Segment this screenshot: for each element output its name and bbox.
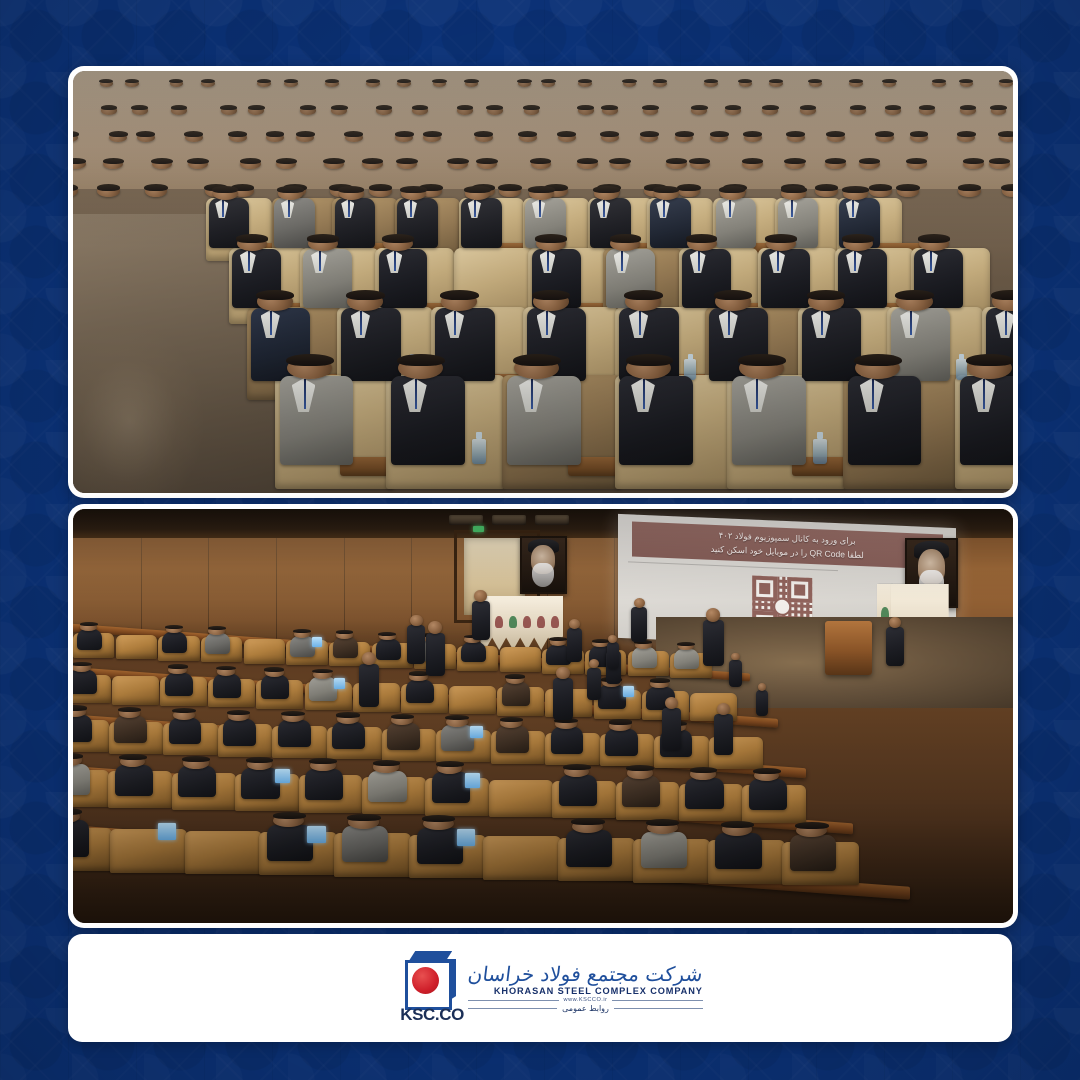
seated-person-body [280,376,353,465]
hall-audience-hair [309,758,337,764]
hall-audience-body [674,649,699,670]
standing-person [407,625,425,664]
company-logo: KSC.CO شرکت مجتمع فولاد خراسان KHORASAN … [401,951,703,1025]
seated-person-body [619,376,692,465]
hall-audience-body [685,778,723,809]
seated-person-hair [212,186,239,193]
seated-person-hair [256,290,295,300]
lanyard [547,251,549,271]
flag-row-left [477,596,561,650]
hall-audience-body [162,632,187,653]
cube-red-dot-icon [412,967,439,994]
lanyard [603,200,605,216]
seated-person-body [761,249,810,308]
seated-person-hair [842,186,869,193]
seated-person-hair [535,234,567,242]
website-rule-row: www.KSCCO.ir [468,997,703,1003]
audience-photo-card [68,66,1018,498]
hall-audience-hair [80,622,98,626]
hall-audience-hair [73,662,92,667]
lanyard [1005,311,1007,335]
rule-left-2 [468,1008,557,1009]
hall-audience-body [77,629,102,650]
hall-audience-hair [690,767,718,773]
standing-person-head [608,635,616,643]
hall-audience-hair [168,664,188,669]
lanyard [983,379,985,409]
phone-screen [334,678,345,689]
seated-person-hair [686,234,718,242]
water-bottle [472,439,486,464]
standing-person-head [665,697,678,709]
phone-screen [158,823,176,840]
hall-audience-hair [118,707,142,712]
standing-person [662,708,681,750]
lanyard [539,200,541,216]
hall-audience-hair [436,761,464,767]
seated-person-hair [338,186,365,193]
phone-screen [623,686,634,697]
seated-person-hair [842,234,874,242]
hall-seat [116,635,157,660]
hall-audience-body [223,719,256,746]
seated-person-body [391,376,464,465]
hall-audience-hair [373,760,401,766]
standing-person [703,620,724,666]
lanyard [270,311,272,335]
lanyard [546,311,548,335]
seated-person-body [303,249,352,308]
seated-person-hair [528,186,555,193]
hall-audience-body [566,830,612,866]
seated-person-hair [307,234,339,242]
phone-screen [465,773,480,787]
hall-audience-hair [273,812,306,819]
hall-audience-hair [281,711,305,716]
hall-audience-hair [227,710,251,715]
lanyard [854,251,856,271]
seated-person-hair [277,186,304,193]
seated-person-hair [765,234,797,242]
lanyard [360,311,362,335]
seated-person-hair [236,234,268,242]
hall-audience-hair [182,756,210,762]
hall-audience-hair [721,821,754,828]
standing-person-head [362,652,376,665]
standing-person [607,642,619,668]
seated-person-hair [286,354,334,367]
lanyard [910,311,912,335]
standing-person-head [410,615,422,627]
department-rule-row: روابط عمومی [468,1004,703,1013]
seated-person-hair [738,354,786,367]
hall-audience-body [115,765,153,796]
lanyard [621,251,623,271]
seated-person-body [650,198,691,247]
hall-audience-body [305,769,343,800]
hall-audience-body [205,633,230,654]
standing-person [359,664,379,707]
hall-audience-body [213,674,241,698]
hall-audience-body [387,723,420,750]
ceiling-vent [492,515,526,525]
phone-screen [457,829,475,846]
hall-audience-hair [73,753,83,759]
department-label: روابط عمومی [562,1004,609,1013]
rule-left [468,1000,558,1001]
seated-person-hair [513,354,561,367]
company-name-english: KHORASAN STEEL COMPLEX COMPANY [494,986,703,996]
hall-audience-body [178,766,216,797]
ceiling-vent [535,515,569,525]
hall-audience-body [715,833,761,869]
standing-person-head [706,608,721,621]
hall-audience-body [559,775,597,806]
standing-person [553,678,572,720]
standing-person [426,633,446,676]
hall-audience-hair [795,822,828,829]
seated-person-body [507,376,580,465]
hall-audience-body [376,639,401,660]
qr-eye-tr [788,577,813,603]
seated-person-hair [610,234,642,242]
lanyard [643,379,645,409]
portrait-khomeini [520,536,567,594]
hall-audience-hair [646,819,679,826]
seated-person-hair [626,354,674,367]
lanyard [777,251,779,271]
hall-audience-hair [563,764,591,770]
lanyard [415,379,417,409]
hall-audience-hair [336,712,360,717]
hall-photo-card: برای ورود به کانال سمپوزیوم فولاد ۴۰۲ لط… [68,504,1018,928]
seated-person-hair [895,290,934,300]
standing-person [714,714,733,755]
hall-audience-body [406,680,434,704]
hall-audience-body [551,727,584,754]
standing-person-head [474,590,487,602]
lanyard [729,200,731,216]
seated-person-hair [440,290,479,300]
lanyard [348,200,350,216]
hall-audience-hair [505,674,525,679]
exit-sign-icon [473,526,484,532]
ksc-cube-icon: KSC.CO [401,951,459,1025]
seated-person-body [802,308,861,380]
footer-logo-card: KSC.CO شرکت مجتمع فولاد خراسان KHORASAN … [68,934,1012,1042]
seated-person-hair [966,354,1013,367]
seated-person-body [335,198,376,247]
company-name-persian: شرکت مجتمع فولاد خراسان [467,963,704,985]
hall-audience-body [73,670,97,694]
hall-audience-hair [172,708,196,713]
hall-audience-body [333,637,358,658]
seated-person-body [379,249,428,308]
hall-audience-hair [208,626,226,630]
seated-person-body [848,376,921,465]
hall-audience-body [496,726,529,753]
seated-person-hair [400,186,427,193]
lanyard [728,311,730,335]
audience-photo [73,71,1013,493]
hall-audience-body [790,835,836,871]
lanyard [698,251,700,271]
podium [825,621,872,675]
lanyard [248,251,250,271]
seated-person-hair [714,290,753,300]
rule-right-2 [614,1008,703,1009]
lanyard [394,251,396,271]
standing-person [587,668,602,701]
hall-audience-body [73,764,90,795]
rule-right [612,1000,702,1001]
hall-seat [449,686,496,715]
lanyard [821,311,823,335]
lanyard [454,311,456,335]
seated-person-hair [464,186,491,193]
seated-person-body [341,308,400,380]
seated-person-hair [593,186,620,193]
hall-audience-hair [246,757,274,763]
lanyard [531,379,533,409]
hall-audience-body [165,673,193,697]
hall-seat [185,831,262,874]
hall-audience-hair [650,678,670,683]
lanyard [319,251,321,271]
hall-audience-body [261,675,289,699]
standing-person [631,607,647,642]
standing-person [756,690,768,716]
logo-text-block: شرکت مجتمع فولاد خراسان KHORASAN STEEL C… [468,963,703,1013]
lanyard [288,200,290,216]
phone-screen [275,769,290,783]
hall-audience-hair [391,714,415,719]
hall-audience-body [632,647,657,668]
standing-person-head [889,617,901,628]
hall-audience-hair [609,719,633,724]
seated-person-hair [624,290,663,300]
phone-screen [307,826,325,843]
hall-audience-body [368,771,406,802]
flag [491,596,507,650]
hall-audience-hair [378,632,396,636]
phone-screen [470,726,483,738]
water-bottle [813,439,827,464]
standing-person [886,627,904,666]
hall-seat [489,780,553,817]
lanyard [930,251,932,271]
hall-audience-hair [753,768,781,774]
hall-audience-body [278,720,311,747]
hall-audience-hair [312,669,332,674]
hall-audience-hair [571,818,604,825]
hall-audience-body [169,718,202,745]
seated-person-hair [532,290,571,300]
hall-seat [483,836,560,879]
hall-audience-hair [119,754,147,760]
lanyard [474,200,476,216]
flag [519,596,535,650]
hall-audience-body [749,779,787,810]
seated-person-hair [346,290,385,300]
seated-person-hair [397,354,445,367]
hall-audience-hair [293,629,311,633]
standing-person [567,628,583,662]
hall-audience-hair [165,625,183,629]
lanyard [756,379,758,409]
hall-audience-hair [549,637,567,641]
seated-person-body [732,376,805,465]
lanyard [663,200,665,216]
seated-person-hair [719,186,746,193]
lanyard [872,379,874,409]
seated-person-hair [807,290,846,300]
hall-audience-body [641,832,687,868]
hall-audience-hair [445,715,469,720]
hall-audience-hair [73,705,87,710]
hall-audience-body [622,776,660,807]
hall-audience-body [342,826,388,862]
hall-seat [112,676,159,705]
standing-person-head [758,683,766,691]
standing-person-head [569,619,580,629]
seated-person-hair [382,234,414,242]
hall-audience-hair [626,765,654,771]
seated-person-hair [781,186,808,193]
lanyard [410,200,412,216]
seated-person-body [838,249,887,308]
standing-person-head [556,667,570,679]
qr-center-logo [774,598,792,617]
seated-person-hair [918,234,950,242]
lanyard [304,379,306,409]
ceiling-vent [449,515,483,525]
company-website: www.KSCCO.ir [564,997,608,1003]
hall-audience-hair [422,815,455,822]
hall-audience-body [461,642,486,663]
poster-root: برای ورود به کانال سمپوزیوم فولاد ۴۰۲ لط… [0,0,1080,1080]
seated-person-body [461,198,502,247]
hall-audience-hair [500,717,524,722]
seated-person-body [716,198,757,247]
hall-audience-body [332,722,365,749]
seated-person-hair [854,354,902,367]
standing-person-head [731,653,740,661]
lanyard [791,200,793,216]
hall-seat [500,647,541,672]
standing-person-head [634,598,645,608]
standing-person-head [428,621,442,634]
lanyard [639,311,641,335]
flag [505,596,521,650]
lanyard [852,200,854,216]
standing-person [729,660,741,687]
hall-audience-body [73,715,92,742]
hall-audience-hair [347,814,380,821]
hall-audience-hair [592,639,610,643]
hall-audience-hair [264,667,284,672]
logo-mark-label: KSC.CO [400,1005,464,1025]
phone-screen [312,637,322,647]
hall-audience-body [417,828,463,864]
seated-person-hair [653,186,680,193]
hall-audience-body [114,716,147,743]
hall-audience-body [73,820,89,856]
hall-wide-photo: برای ورود به کانال سمپوزیوم فولاد ۴۰۲ لط… [73,509,1013,923]
hall-audience-hair [677,642,695,646]
seated-person-body [435,308,494,380]
flag [533,596,549,650]
qr-eye-tl [753,576,778,602]
hall-seat [244,639,285,664]
hall-audience-body [502,682,530,706]
standing-person [472,601,490,641]
hall-audience-body [605,729,638,756]
lanyard [222,200,224,216]
